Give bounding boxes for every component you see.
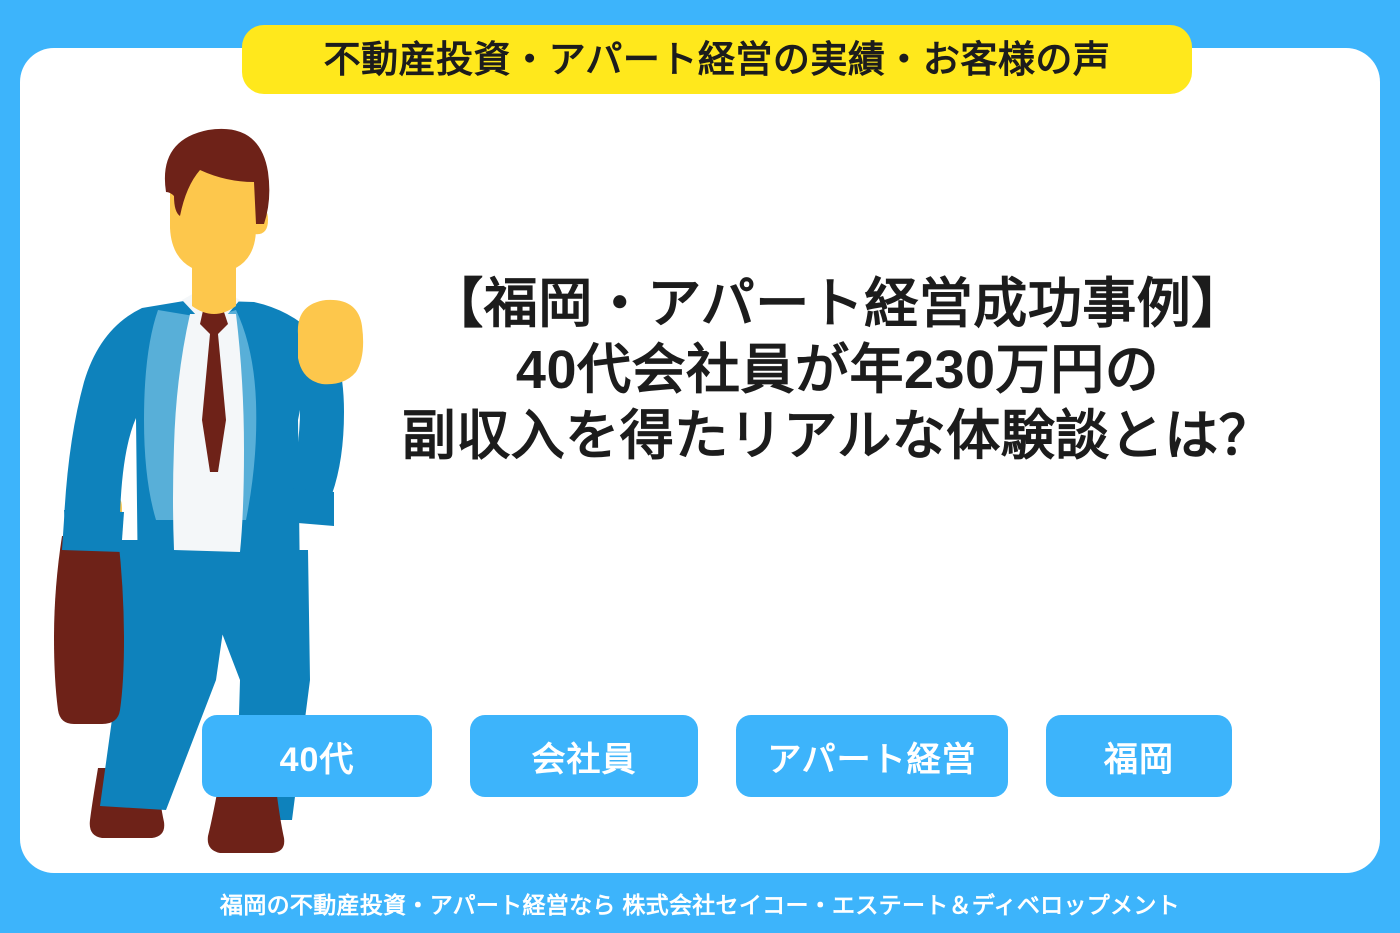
tag-location[interactable]: 福岡	[1046, 715, 1232, 797]
tag-list: 40代 会社員 アパート経営 福岡	[202, 714, 1232, 798]
tag-label: 福岡	[1104, 732, 1174, 781]
poster-root: 【福岡・アパート経営成功事例】 40代会社員が年230万円の 副収入を得たリアル…	[0, 0, 1400, 933]
headline-line-3: 副収入を得たリアルな体験談とは？	[370, 404, 1305, 470]
headline-line-1: 【福岡・アパート経営成功事例】	[370, 272, 1305, 338]
tag-label: 40代	[280, 732, 355, 781]
headline-line-2: 40代会社員が年230万円の	[370, 338, 1305, 404]
tag-business[interactable]: アパート経営	[736, 715, 1008, 797]
footer-bar: 福岡の不動産投資・アパート経営なら 株式会社セイコー・エステート＆ディベロップメ…	[0, 873, 1400, 933]
tag-label: アパート経営	[767, 732, 976, 781]
tag-age[interactable]: 40代	[202, 715, 432, 797]
tag-label: 会社員	[532, 732, 637, 781]
header-badge: 不動産投資・アパート経営の実績・お客様の声	[242, 25, 1192, 94]
headline: 【福岡・アパート経営成功事例】 40代会社員が年230万円の 副収入を得たリアル…	[370, 272, 1305, 470]
header-badge-label: 不動産投資・アパート経営の実績・お客様の声	[324, 41, 1111, 78]
tag-occupation[interactable]: 会社員	[470, 715, 698, 797]
footer-company-text: 福岡の不動産投資・アパート経営なら 株式会社セイコー・エステート＆ディベロップメ…	[220, 886, 1180, 920]
